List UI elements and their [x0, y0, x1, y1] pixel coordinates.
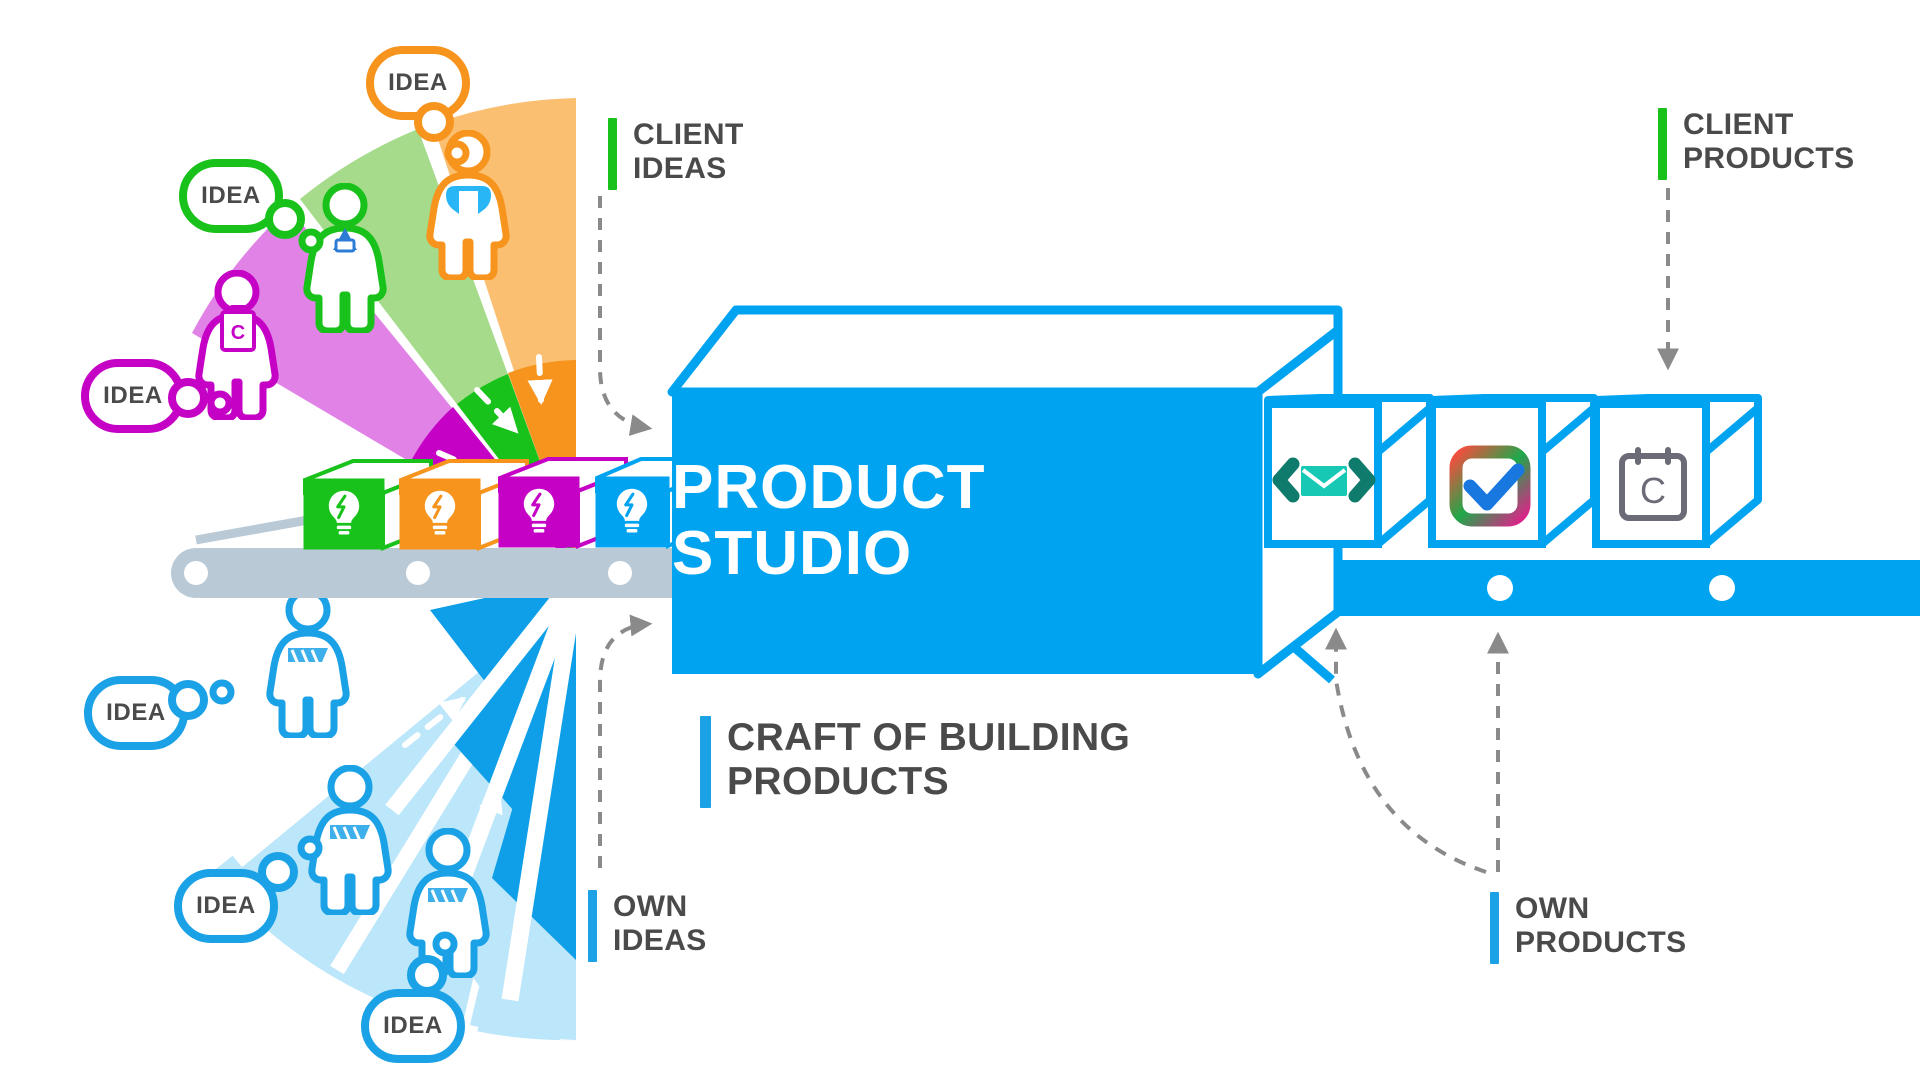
label-own-ideas: OWN IDEAS	[588, 890, 707, 962]
svg-text:C: C	[1640, 470, 1666, 511]
own-ideas-fan	[211, 560, 585, 1047]
tie-icon	[330, 825, 370, 841]
arrow-own-products-up-left	[1336, 632, 1486, 872]
clipboard-icon: C	[222, 305, 254, 350]
arrow-client-ideas-to-studio	[600, 196, 648, 428]
label-accent-bar	[1658, 108, 1667, 180]
product-studio-title: PRODUCT STUDIO	[672, 455, 986, 586]
product-box-calendar[interactable]: C	[1596, 398, 1758, 544]
label-accent-bar	[1490, 892, 1499, 964]
product-boxes: C	[1268, 398, 1758, 544]
label-accent-bar	[588, 890, 597, 962]
idea-bubble-green[interactable]	[183, 163, 320, 250]
label-client-products: CLIENT PRODUCTS	[1658, 108, 1855, 180]
idea-bubble-blue-1[interactable]	[88, 680, 231, 746]
label-craft-of-building-products: CRAFT OF BUILDING PRODUCTS	[700, 716, 1130, 808]
label-client-ideas: CLIENT IDEAS	[608, 118, 744, 190]
own-person-1	[270, 591, 346, 736]
arrow-own-ideas-to-studio	[600, 624, 648, 868]
label-own-products-text: OWN PRODUCTS	[1515, 892, 1687, 959]
label-own-ideas-text: OWN IDEAS	[613, 890, 707, 957]
idea-boxes	[305, 459, 712, 548]
tie-icon	[428, 888, 468, 904]
svg-text:C: C	[231, 322, 245, 344]
label-client-products-text: CLIENT PRODUCTS	[1683, 108, 1855, 175]
label-accent-bar	[700, 716, 711, 808]
output-conveyor	[1258, 560, 1920, 680]
product-box-checkmark[interactable]	[1432, 398, 1594, 544]
label-client-ideas-text: CLIENT IDEAS	[633, 118, 744, 185]
label-craft-text: CRAFT OF BUILDING PRODUCTS	[727, 716, 1130, 803]
label-accent-bar	[608, 118, 617, 190]
infographic-canvas: C	[0, 0, 1920, 1080]
label-own-products: OWN PRODUCTS	[1490, 892, 1687, 964]
calendar-c-icon: C	[1622, 450, 1684, 518]
tie-icon	[288, 648, 328, 664]
product-box-mail-code[interactable]	[1268, 398, 1430, 544]
